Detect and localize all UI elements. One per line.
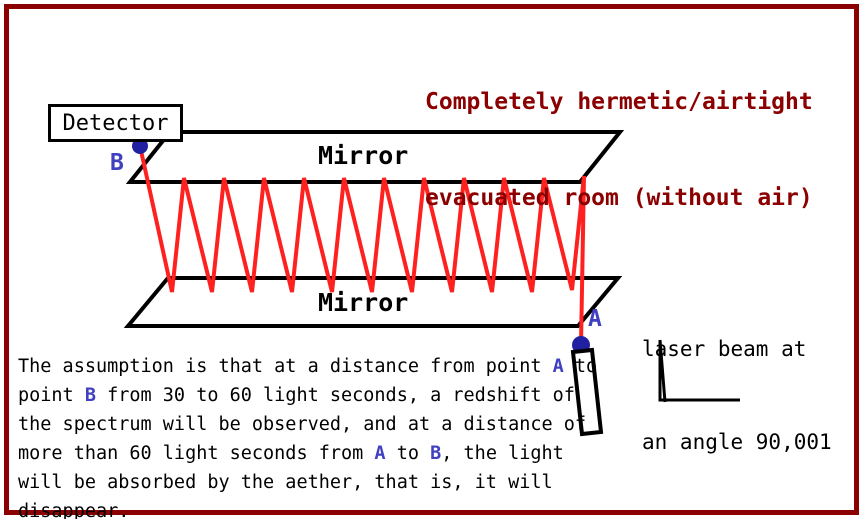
- title-line-2: evacuated room (without air): [425, 182, 845, 214]
- mirror-bottom-label: Mirror: [318, 288, 408, 317]
- point-a-label: A: [588, 306, 602, 332]
- assumption-point-b-2: B: [430, 443, 441, 464]
- page-title: Completely hermetic/airtight evacuated r…: [425, 22, 845, 278]
- laser-note-line-1: laser beam at: [642, 334, 857, 365]
- assumption-part-4: to: [386, 443, 431, 464]
- assumption-point-a-1: A: [553, 356, 564, 377]
- assumption-point-a-2: A: [374, 443, 385, 464]
- detector-box: Detector: [48, 104, 183, 142]
- assumption-part-1: The assumption is that at a distance fro…: [18, 356, 553, 377]
- assumption-point-b-1: B: [85, 385, 96, 406]
- laser-note-line-2: an angle 90,001: [642, 427, 857, 458]
- detector-label: Detector: [51, 107, 180, 139]
- diagram-page: Completely hermetic/airtight evacuated r…: [0, 0, 863, 519]
- point-b-label: B: [110, 150, 124, 176]
- mirror-top-label: Mirror: [318, 141, 408, 170]
- laser-beam-note: laser beam at an angle 90,001 degrees: [642, 272, 857, 519]
- assumption-text: The assumption is that at a distance fro…: [18, 352, 598, 519]
- title-line-1: Completely hermetic/airtight: [425, 86, 845, 118]
